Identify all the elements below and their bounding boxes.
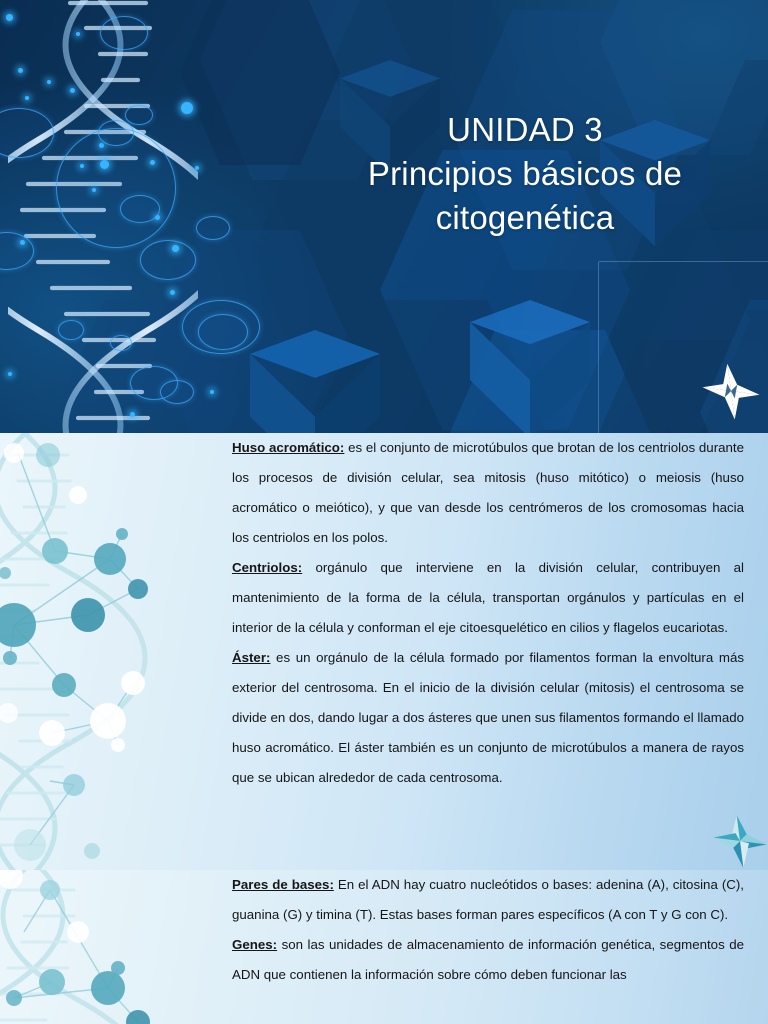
glow-dot (150, 160, 155, 165)
bubble-decoration (198, 314, 248, 350)
paragraph-aster: Áster: es un orgánulo de la célula forma… (232, 643, 744, 793)
definition-centriolos: orgánulo que interviene en la división c… (232, 560, 744, 635)
network-nodes (0, 433, 230, 870)
cube-shape (250, 330, 380, 433)
glow-dot (25, 96, 29, 100)
bubble-decoration (160, 380, 194, 404)
glow-dot (76, 32, 80, 36)
glow-dot (99, 143, 104, 148)
page-title: UNIDAD 3 Principios básicos de citogenét… (310, 108, 740, 240)
document-body: Huso acromático: es el conjunto de micro… (0, 433, 768, 1024)
glow-dot (92, 188, 96, 192)
bubble-decoration (125, 105, 153, 125)
network-nodes (0, 870, 230, 1024)
title-banner: UNIDAD 3 Principios básicos de citogenét… (0, 0, 768, 433)
glow-dot (8, 372, 12, 376)
term-centriolos: Centriolos: (232, 560, 302, 575)
bubble-decoration (140, 240, 196, 280)
bubble-decoration (120, 195, 160, 223)
glow-dot (195, 166, 199, 170)
glow-dot (80, 164, 84, 168)
bubble-decoration (56, 128, 176, 248)
molecular-network-icon (0, 870, 230, 1024)
bubble-decoration (100, 16, 148, 50)
glow-dot (155, 215, 160, 220)
definition-aster: es un orgánulo de la célula formado por … (232, 650, 744, 785)
glow-dot (20, 240, 25, 245)
paragraph-huso-acromatico: Huso acromático: es el conjunto de micro… (232, 433, 744, 553)
glow-dot (100, 160, 109, 169)
paragraph-centriolos: Centriolos: orgánulo que interviene en l… (232, 553, 744, 643)
title-line-1: UNIDAD 3 (310, 108, 740, 152)
glow-dot (6, 14, 13, 21)
paragraph-pares-de-bases: Pares de bases: En el ADN hay cuatro nuc… (232, 870, 744, 930)
glow-dot (210, 390, 214, 394)
term-aster: Áster: (232, 650, 270, 665)
term-huso-acromatico: Huso acromático: (232, 440, 344, 455)
glow-dot (170, 290, 175, 295)
document-sheet-2: Pares de bases: En el ADN hay cuatro nuc… (0, 870, 768, 1024)
bubble-decoration (196, 216, 230, 240)
glow-dot (130, 412, 135, 417)
term-genes: Genes: (232, 937, 277, 952)
glow-dot (172, 245, 179, 252)
bubble-decoration (110, 335, 132, 351)
paragraph-genes: Genes: son las unidades de almacenamient… (232, 930, 744, 990)
title-line-3: citogenética (310, 196, 740, 240)
title-line-2: Principios básicos de (310, 152, 740, 196)
compass-star-icon (712, 811, 768, 870)
glow-dot (18, 68, 23, 73)
molecular-network-icon (0, 433, 230, 870)
term-pares-de-bases: Pares de bases: (232, 877, 334, 892)
glow-dot (70, 88, 75, 93)
page-1-text-content: Huso acromático: es el conjunto de micro… (232, 433, 744, 793)
definition-huso-acromatico: es el conjunto de microtúbulos que brota… (232, 440, 744, 545)
compass-star-icon (700, 358, 762, 424)
glow-dot (181, 102, 193, 114)
document-sheet-1: Huso acromático: es el conjunto de micro… (0, 433, 768, 870)
bubble-decoration (98, 120, 134, 146)
glow-dot (47, 80, 51, 84)
page-2-text-content: Pares de bases: En el ADN hay cuatro nuc… (232, 870, 744, 990)
bubble-decoration (58, 320, 84, 340)
document-page: UNIDAD 3 Principios básicos de citogenét… (0, 0, 768, 1024)
cube-shape (470, 300, 590, 433)
definition-genes: son las unidades de almacenamiento de in… (232, 937, 744, 982)
